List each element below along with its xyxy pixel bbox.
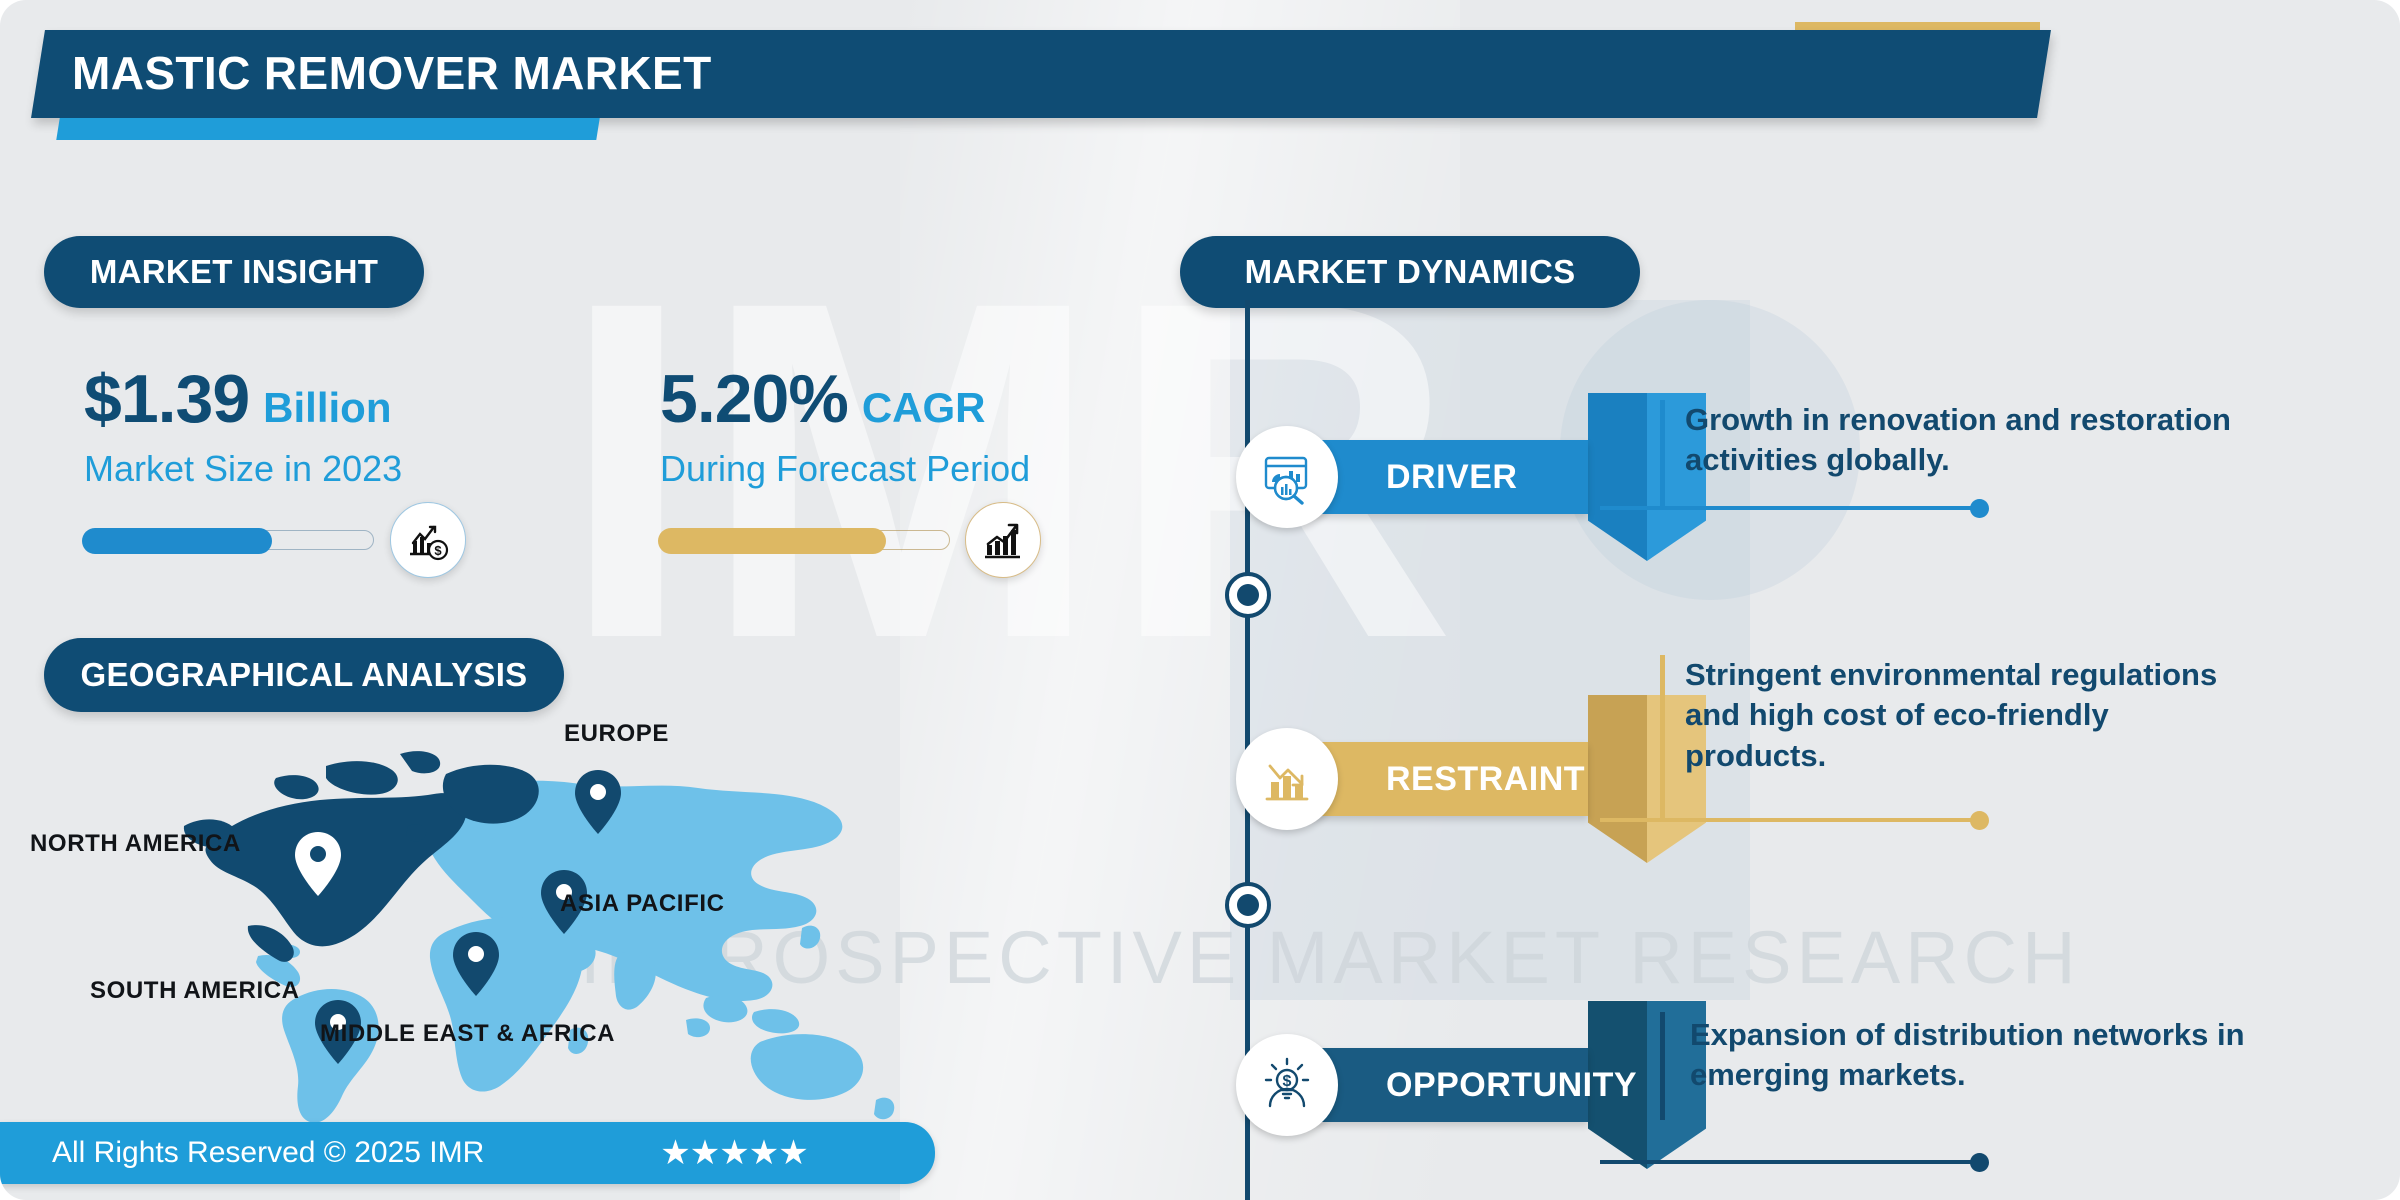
stat-value-row: $1.39 Billion [84,360,402,438]
lightbulb-dollar-icon: $ [1236,1034,1338,1136]
cagr-progress-track [660,530,950,550]
dynamics-ribbon-driver: DRIVER [1258,440,1588,514]
restraint-text-tick [1660,655,1665,820]
market-size-progress-fill [82,528,272,554]
driver-text-tick [1660,400,1665,508]
rating-stars: ★★★★★ [660,1133,807,1173]
world-map: NORTH AMERICA EUROPE ASIA PACIFIC SOUTH … [150,730,1020,1130]
opportunity-text-tick [1660,1012,1665,1120]
declining-bar-chart-icon [1236,728,1338,830]
stat-value: $1.39 [84,360,249,438]
timeline-node-1 [1225,572,1271,618]
stat-market-size: $1.39 Billion Market Size in 2023 [84,360,402,490]
dashboard-magnifier-icon [1236,426,1338,528]
opportunity-text: Expansion of distribution networks in em… [1690,1015,2250,1096]
stat-value: 5.20% [660,360,848,438]
stat-cagr: 5.20% CAGR During Forecast Period [660,360,1030,490]
infographic-canvas: IMR INTROSPECTIVE MARKET RESEARCH MASTIC… [0,0,2400,1200]
cagr-progress-fill [658,528,886,554]
driver-text: Growth in renovation and restoration act… [1685,400,2245,481]
stat-unit: CAGR [862,384,986,432]
map-label-europe: EUROPE [564,720,669,748]
driver-underline-knob [1970,499,1989,518]
stat-caption: Market Size in 2023 [84,448,402,490]
dynamics-ribbon-restraint: RESTRAINT [1258,742,1588,816]
restraint-underline [1600,818,1980,822]
ribbon-fold-left [1588,695,1647,863]
page-title: MASTIC REMOVER MARKET [72,46,712,100]
market-size-progress-track [84,530,374,550]
section-pill-market-insight: MARKET INSIGHT [44,236,424,308]
timeline-node-2 [1225,882,1271,928]
map-label-north-america: NORTH AMERICA [30,830,241,858]
stat-value-row: 5.20% CAGR [660,360,1030,438]
restraint-text: Stringent environmental regulations and … [1685,655,2245,776]
bar-chart-dollar-icon: $ [390,502,466,578]
dynamics-ribbon-opportunity: OPPORTUNITY $ [1258,1048,1588,1122]
stat-unit: Billion [263,384,391,432]
restraint-underline-knob [1970,811,1989,830]
map-label-middle-east-africa: MIDDLE EAST & AFRICA [320,1020,615,1048]
driver-underline [1600,506,1980,510]
map-label-asia-pacific: ASIA PACIFIC [560,890,725,918]
opportunity-underline-knob [1970,1153,1989,1172]
header-blue-underbar [56,118,599,140]
section-pill-market-dynamics: MARKET DYNAMICS [1180,236,1640,308]
stat-caption: During Forecast Period [660,448,1030,490]
footer-bar: All Rights Reserved © 2025 IMR ★★★★★ [0,1122,935,1184]
section-pill-geographical-analysis: GEOGRAPHICAL ANALYSIS [44,638,564,712]
svg-text:$: $ [434,543,442,558]
ribbon-fold-left [1588,393,1647,561]
map-label-south-america: SOUTH AMERICA [90,977,300,1005]
svg-text:$: $ [1283,1073,1292,1090]
growth-chart-arrow-icon [965,502,1041,578]
opportunity-underline [1600,1160,1980,1164]
copyright-text: All Rights Reserved © 2025 IMR [52,1136,484,1170]
